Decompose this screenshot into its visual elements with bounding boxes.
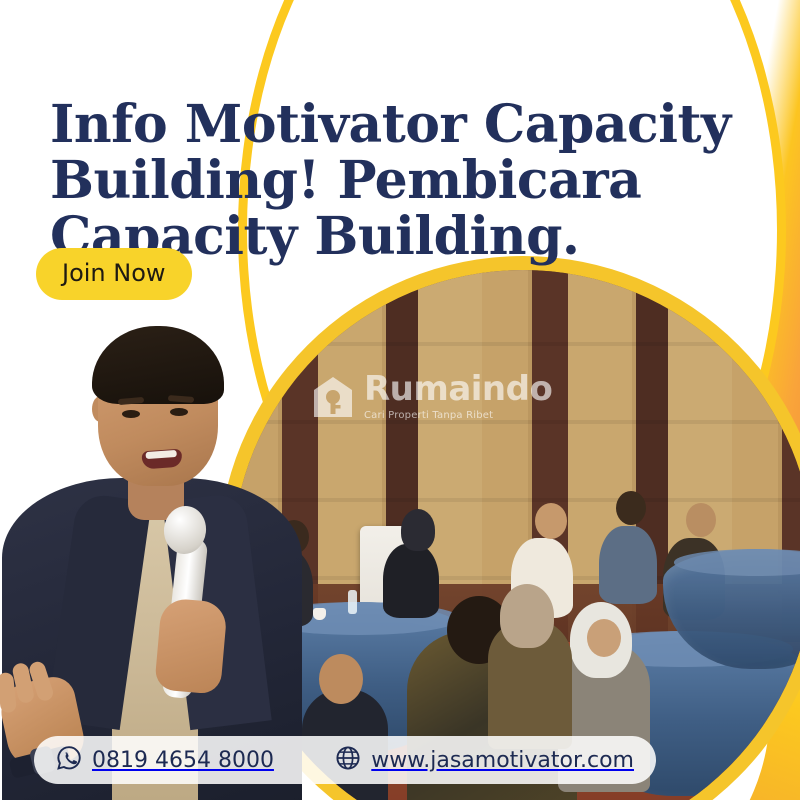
audience-hijab [500,584,554,648]
contact-bar: 0819 4654 8000 www.jasamotivator.com [34,736,656,784]
audience-head [686,503,716,537]
website-contact[interactable]: www.jasamotivator.com [335,745,634,776]
audience-head [535,503,567,539]
speaker-hair [92,326,224,404]
headline-line-2: Building! Pembicara [50,153,740,209]
audience-person [599,526,657,604]
whatsapp-contact[interactable]: 0819 4654 8000 [56,745,274,776]
event-photo [232,270,800,800]
table-bottle [348,590,357,614]
poster-canvas: Rumaindo Cari Properti Tanpa Ribet Info … [0,0,800,800]
page-title: Info Motivator Capacity Building! Pembic… [50,97,740,265]
headline-line-1: Info Motivator Capacity [50,97,740,153]
whatsapp-number: 0819 4654 8000 [92,748,274,773]
audience-hijab [401,509,435,551]
speaker-hand-holding-mic [154,597,228,694]
audience-person [383,544,439,618]
whatsapp-icon [56,745,82,776]
join-now-button[interactable]: Join Now [36,248,192,300]
audience-head [587,619,621,657]
speaker-eye-left [122,410,140,418]
table-cloth [674,549,800,575]
globe-icon [335,745,361,776]
website-url: www.jasamotivator.com [371,748,634,773]
speaker-portrait [0,300,310,800]
table-cup [313,608,326,620]
speaker-eye-right [170,408,188,416]
